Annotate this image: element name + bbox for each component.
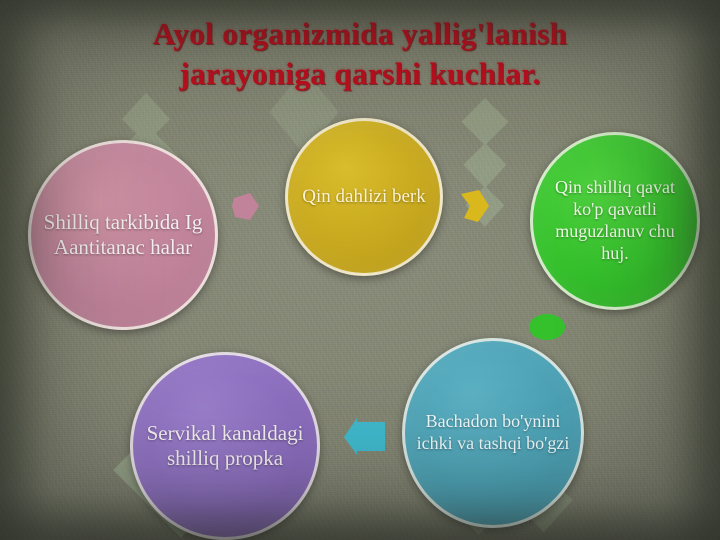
slide-canvas: Ayol organizmida yallig'lanish jarayonig… [0, 0, 720, 540]
slide-vignette [0, 0, 720, 540]
